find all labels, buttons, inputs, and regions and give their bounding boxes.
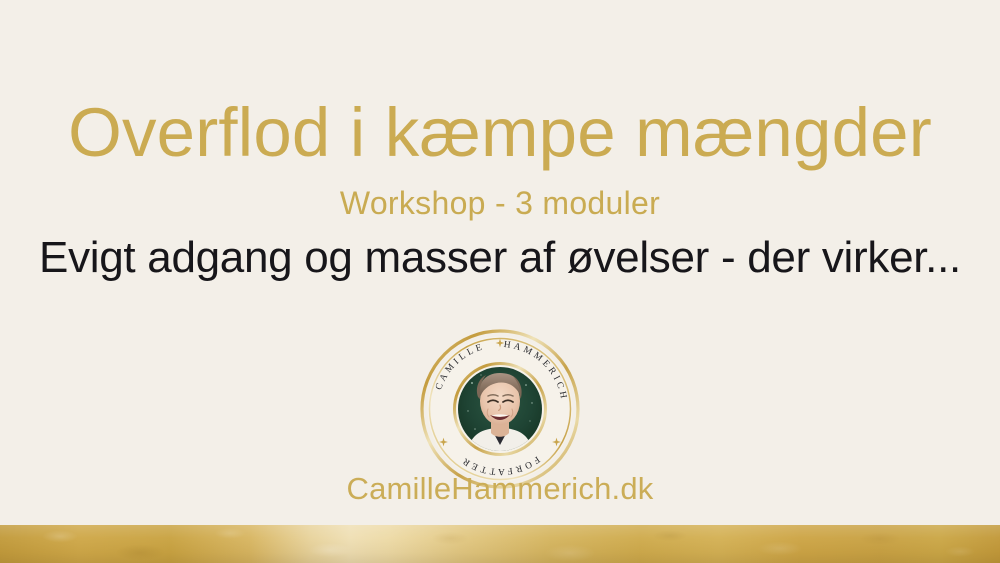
logo-badge-svg: CAMILLE HAMMERICH FORFATTER — [418, 327, 582, 491]
logo-badge: CAMILLE HAMMERICH FORFATTER — [418, 327, 582, 491]
website-url: CamilleHammerich.dk — [0, 470, 1000, 508]
gold-foil-sheen — [0, 525, 1000, 563]
gold-foil-bar — [0, 525, 1000, 563]
subtitle: Workshop - 3 moduler — [0, 184, 1000, 222]
avatar — [458, 367, 542, 451]
page-title: Overflod i kæmpe mængder — [0, 96, 1000, 170]
slide-canvas: Overflod i kæmpe mængder Workshop - 3 mo… — [0, 0, 1000, 563]
tagline: Evigt adgang og masser af øvelser - der … — [0, 232, 1000, 284]
